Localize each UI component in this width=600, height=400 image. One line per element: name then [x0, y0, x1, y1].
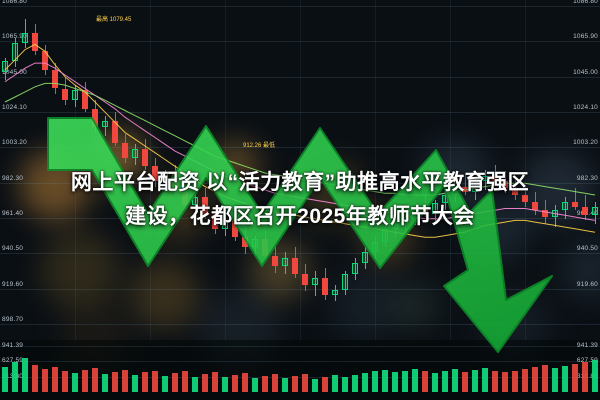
page-title: 网上平台配资 以“活力教育”助推高水平教育强区 建设，花都区召开2025年教师节… — [0, 166, 600, 234]
stock-chart-banner: 1086.801086.801065.901065.901045.001045.… — [0, 0, 600, 400]
headline-line-2: 建设，花都区召开2025年教师节大会 — [0, 200, 600, 234]
headline-line-1: 网上平台配资 以“活力教育”助推高水平教育强区 — [0, 166, 600, 200]
